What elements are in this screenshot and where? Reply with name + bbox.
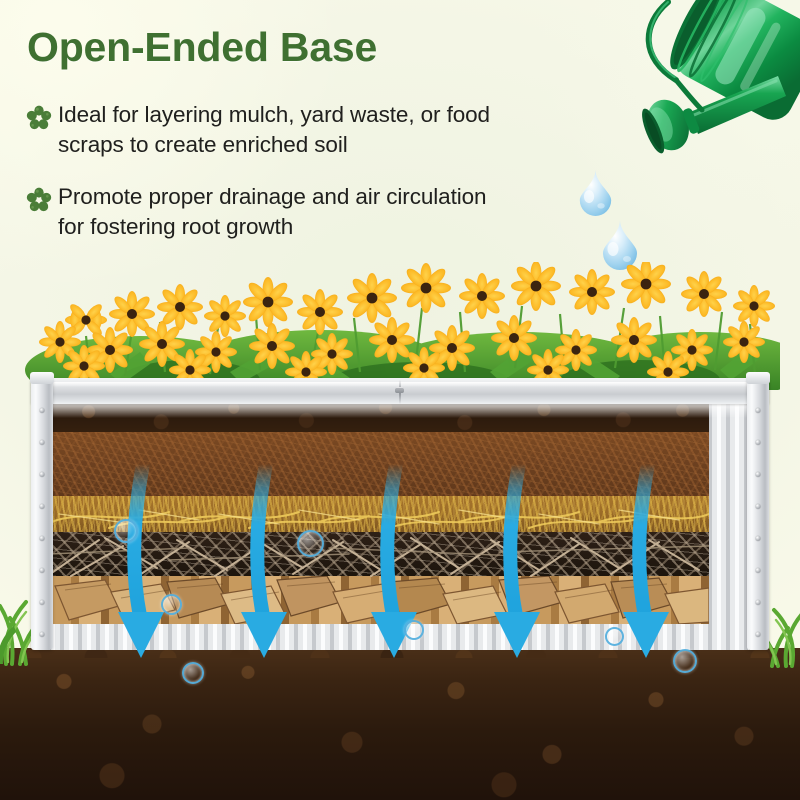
post-screw: [40, 504, 45, 509]
rail-seam-screw: [395, 387, 404, 393]
bed-top-rail: [31, 378, 769, 404]
log-chunks: [49, 576, 709, 624]
infographic-canvas: Open-Ended Base: [0, 0, 800, 800]
list-item: Ideal for layering mulch, yard waste, or…: [24, 100, 494, 160]
panel-top-highlight: [51, 402, 749, 418]
post-cap: [30, 372, 54, 384]
post-screw: [40, 600, 45, 605]
black-eyed-susan-flowers: [20, 262, 780, 390]
post-cap: [746, 372, 770, 384]
green-watering-can: [590, 0, 800, 214]
air-bubble: [182, 662, 204, 684]
post-screw: [756, 504, 761, 509]
post-screw: [756, 632, 761, 637]
clover-flower-icon: [24, 185, 54, 215]
list-item-label: Promote proper drainage and air circulat…: [54, 182, 494, 242]
post-screw: [40, 632, 45, 637]
air-bubble: [297, 530, 324, 557]
post-screw: [756, 408, 761, 413]
page-title: Open-Ended Base: [27, 25, 377, 70]
air-bubble: [114, 519, 138, 543]
air-bubble: [404, 620, 424, 640]
air-bubble: [605, 627, 624, 646]
cross-section-window: [49, 398, 709, 624]
post-screw: [40, 440, 45, 445]
list-item: Promote proper drainage and air circulat…: [24, 182, 494, 242]
post-screw: [40, 568, 45, 573]
clover-flower-icon: [24, 103, 54, 133]
post-screw: [40, 536, 45, 541]
twig-branches: [49, 528, 709, 582]
post-screw: [756, 472, 761, 477]
post-screw: [40, 408, 45, 413]
post-screw: [40, 472, 45, 477]
water-drop-icon: [577, 168, 614, 221]
corner-post-right: [747, 378, 769, 650]
layer-mulch: [49, 432, 709, 496]
galvanized-steel-raised-garden-bed: [31, 378, 769, 656]
list-item-label: Ideal for layering mulch, yard waste, or…: [54, 100, 494, 160]
post-screw: [756, 600, 761, 605]
feature-list: Ideal for layering mulch, yard waste, or…: [24, 100, 494, 260]
air-bubble: [161, 594, 182, 615]
post-screw: [756, 568, 761, 573]
straw-strands: [49, 492, 709, 536]
post-screw: [756, 536, 761, 541]
post-screw: [756, 440, 761, 445]
air-bubble: [673, 649, 697, 673]
corner-post-left: [31, 378, 53, 650]
